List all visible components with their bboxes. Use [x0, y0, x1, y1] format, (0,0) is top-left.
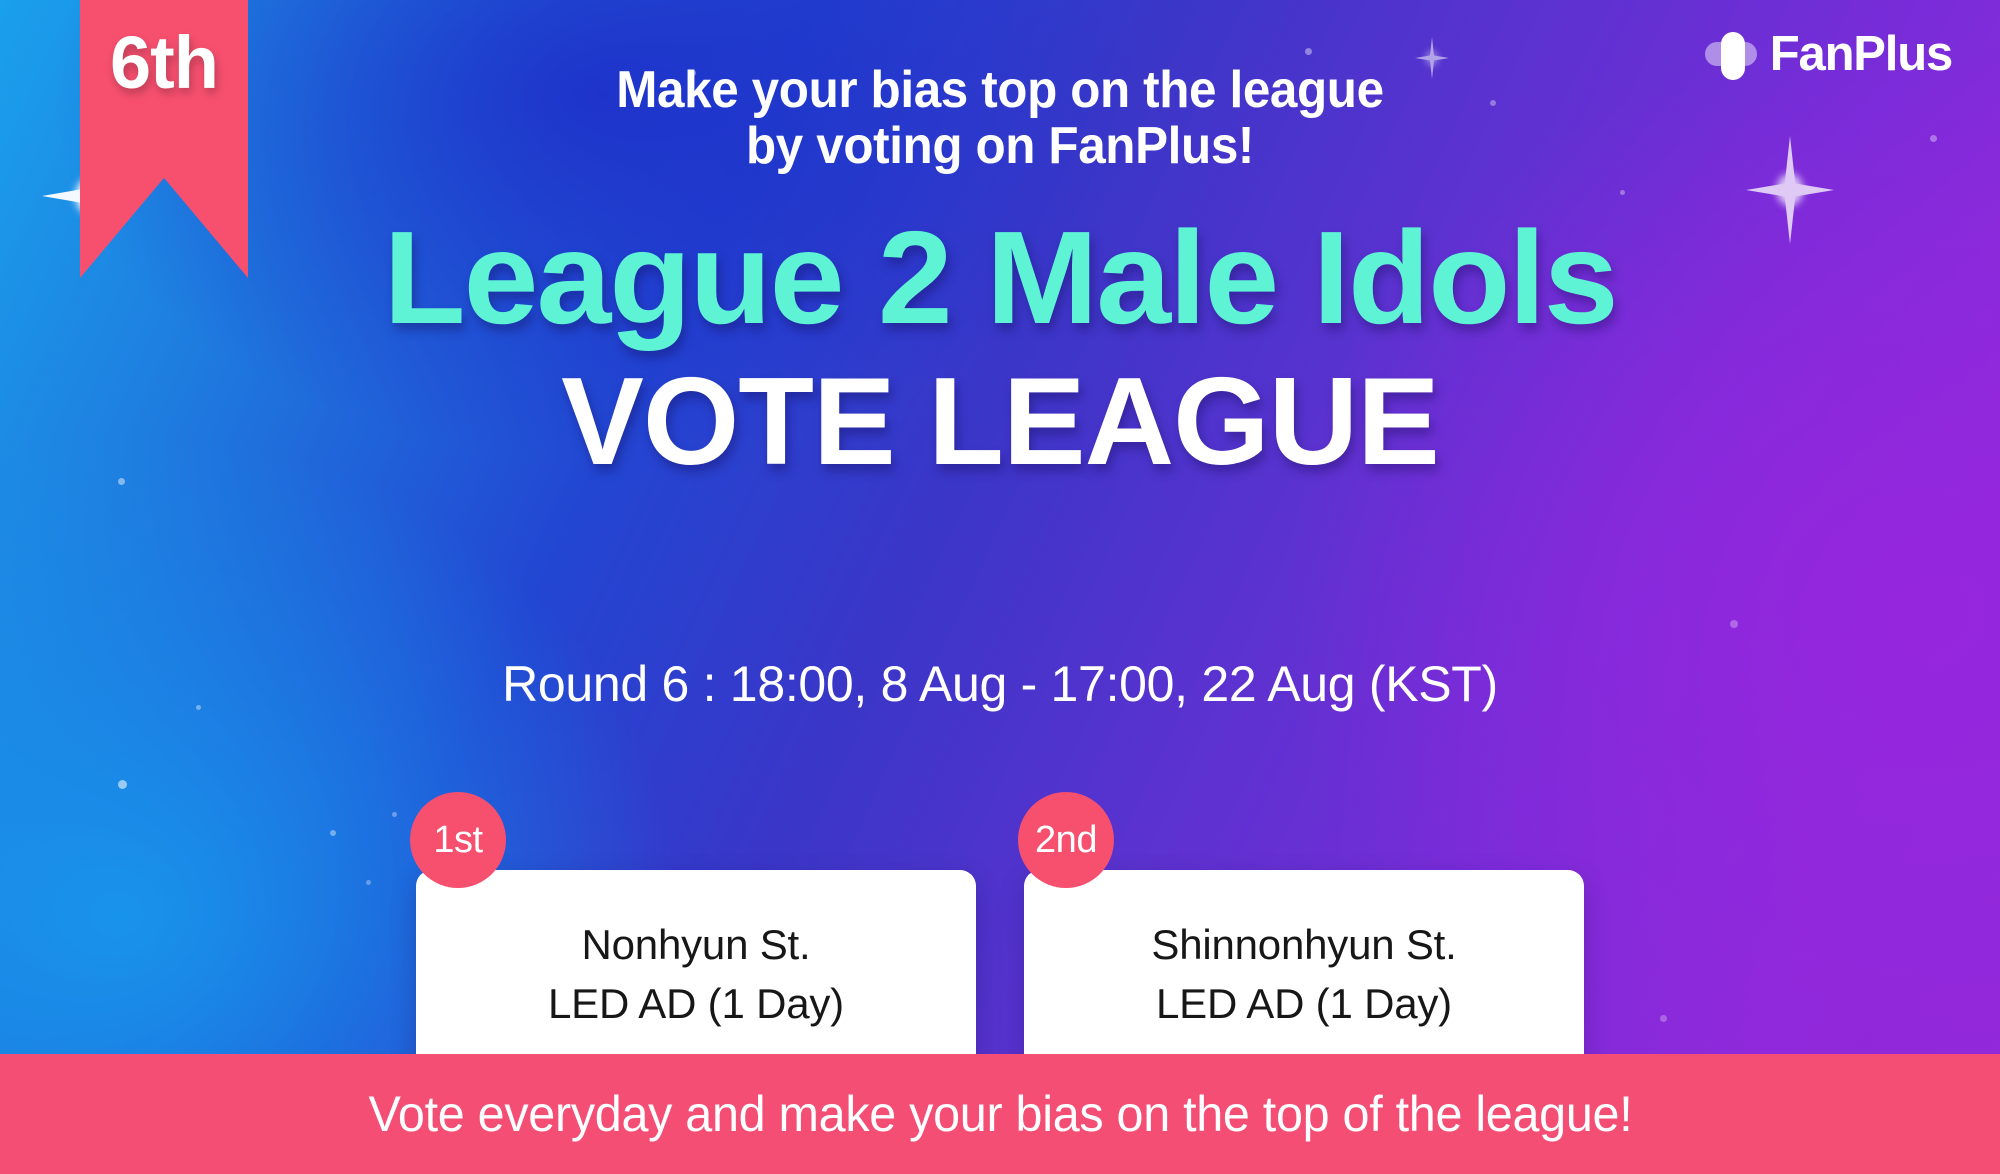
prize-line-1: Shinnonhyun St. [1151, 919, 1456, 970]
prize-card-1[interactable]: 1st Nonhyun St. LED AD (1 Day) [416, 792, 976, 1078]
tagline-line-2: by voting on FanPlus! [50, 118, 1950, 174]
fanplus-logo[interactable]: FanPlus [1705, 26, 1952, 82]
footer-bar: Vote everyday and make your bias on the … [0, 1054, 2000, 1174]
prize-card-body[interactable]: Shinnonhyun St. LED AD (1 Day) [1024, 870, 1584, 1078]
tagline: Make your bias top on the league by voti… [50, 62, 1950, 174]
page-title: League 2 Male Idols [0, 212, 2000, 344]
plus-icon [1705, 28, 1757, 80]
prize-card-2[interactable]: 2nd Shinnonhyun St. LED AD (1 Day) [1024, 792, 1584, 1078]
tagline-line-1: Make your bias top on the league [50, 62, 1950, 118]
prize-card-body[interactable]: Nonhyun St. LED AD (1 Day) [416, 870, 976, 1078]
prize-card-list: 1st Nonhyun St. LED AD (1 Day) 2nd Shinn… [0, 792, 2000, 1078]
prize-line-2: LED AD (1 Day) [1156, 978, 1452, 1029]
footer-cta-text: Vote everyday and make your bias on the … [368, 1085, 1632, 1143]
logo-wordmark: FanPlus [1770, 26, 1952, 82]
schedule-text: Round 6 : 18:00, 8 Aug - 17:00, 22 Aug (… [0, 655, 2000, 713]
prize-line-2: LED AD (1 Day) [548, 978, 844, 1029]
rank-badge: 2nd [1018, 792, 1114, 888]
promo-banner: 6th FanPlus Make your bias top on the le… [0, 0, 2000, 1174]
rank-badge: 1st [410, 792, 506, 888]
prize-line-1: Nonhyun St. [582, 919, 811, 970]
page-subtitle: VOTE LEAGUE [0, 360, 2000, 484]
